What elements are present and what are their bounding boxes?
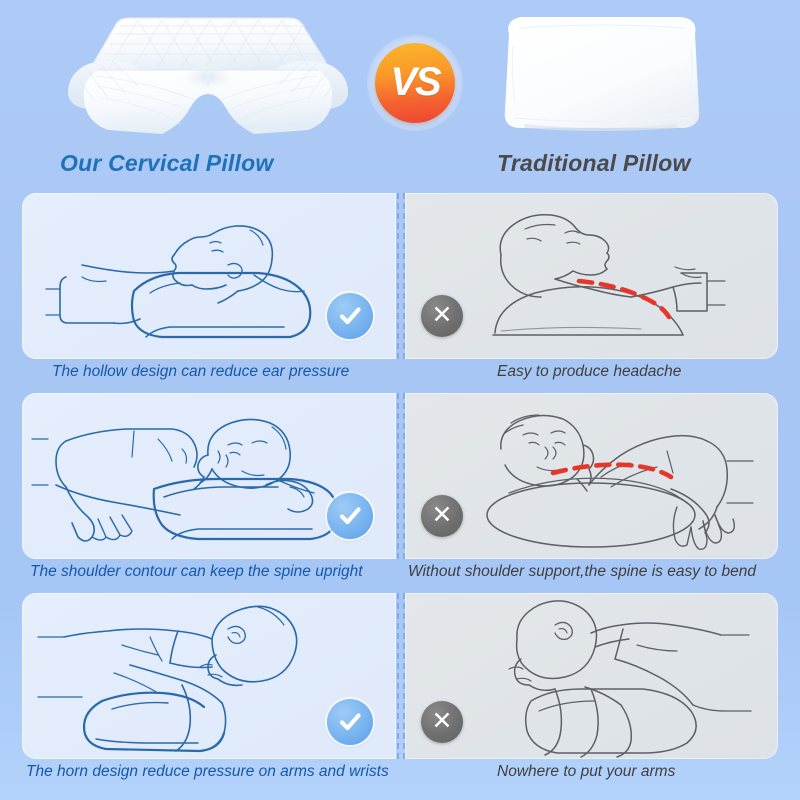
caption-bad-ear-pressure: Easy to produce headache [497, 363, 681, 381]
comparison-row-ear-pressure: ✕ The hollow design can reduce ear press… [0, 193, 800, 393]
spine-warning-line [553, 465, 671, 477]
traditional-pillow-image [495, 6, 710, 141]
infographic-root: VS Our Cervical Pillow Traditional Pillo… [0, 0, 800, 800]
panel-bad-arm-support: ✕ [405, 593, 778, 759]
caption-bad-arm-support: Nowhere to put your arms [497, 763, 675, 781]
vs-badge-circle: VS [375, 43, 455, 123]
x-badge: ✕ [421, 295, 463, 337]
check-badge [327, 493, 373, 539]
x-badge: ✕ [421, 495, 463, 537]
caption-good-arm-support: The horn design reduce pressure on arms … [26, 763, 389, 781]
comparison-row-arm-support: ✕ The horn design reduce pressure on arm… [0, 593, 800, 800]
check-badge [327, 699, 373, 745]
illustration-back-sleeper-flat-pillow [405, 193, 778, 359]
x-glyph: ✕ [432, 303, 453, 328]
check-badge [327, 293, 373, 339]
illustration-side-sleeper-arms-unsupported [405, 593, 778, 759]
hero-section: VS Our Cervical Pillow Traditional Pillo… [0, 0, 800, 190]
heading-our-cervical-pillow: Our Cervical Pillow [60, 150, 273, 177]
x-glyph: ✕ [432, 503, 453, 528]
caption-bad-spine-alignment: Without shoulder support,the spine is ea… [408, 563, 756, 581]
panel-good-arm-support [22, 593, 396, 759]
heading-traditional-pillow: Traditional Pillow [497, 150, 691, 177]
panel-good-spine-alignment [22, 393, 396, 559]
column-divider-left [397, 593, 399, 759]
column-divider-left [397, 193, 399, 359]
comparison-row-spine-alignment: ✕ The shoulder contour can keep the spin… [0, 393, 800, 593]
caption-good-spine-alignment: The shoulder contour can keep the spine … [30, 563, 363, 581]
column-divider-left [397, 393, 399, 559]
illustration-side-sleeper-no-support [405, 393, 778, 559]
caption-good-ear-pressure: The hollow design can reduce ear pressur… [52, 363, 349, 381]
vs-badge: VS [367, 35, 463, 131]
panel-bad-spine-alignment: ✕ [405, 393, 778, 559]
x-badge: ✕ [421, 701, 463, 743]
panel-bad-ear-pressure: ✕ [405, 193, 778, 359]
vs-badge-label: VS [390, 62, 439, 102]
cervical-pillow-image [58, 4, 358, 144]
panel-good-ear-pressure [22, 193, 396, 359]
x-glyph: ✕ [432, 709, 453, 734]
